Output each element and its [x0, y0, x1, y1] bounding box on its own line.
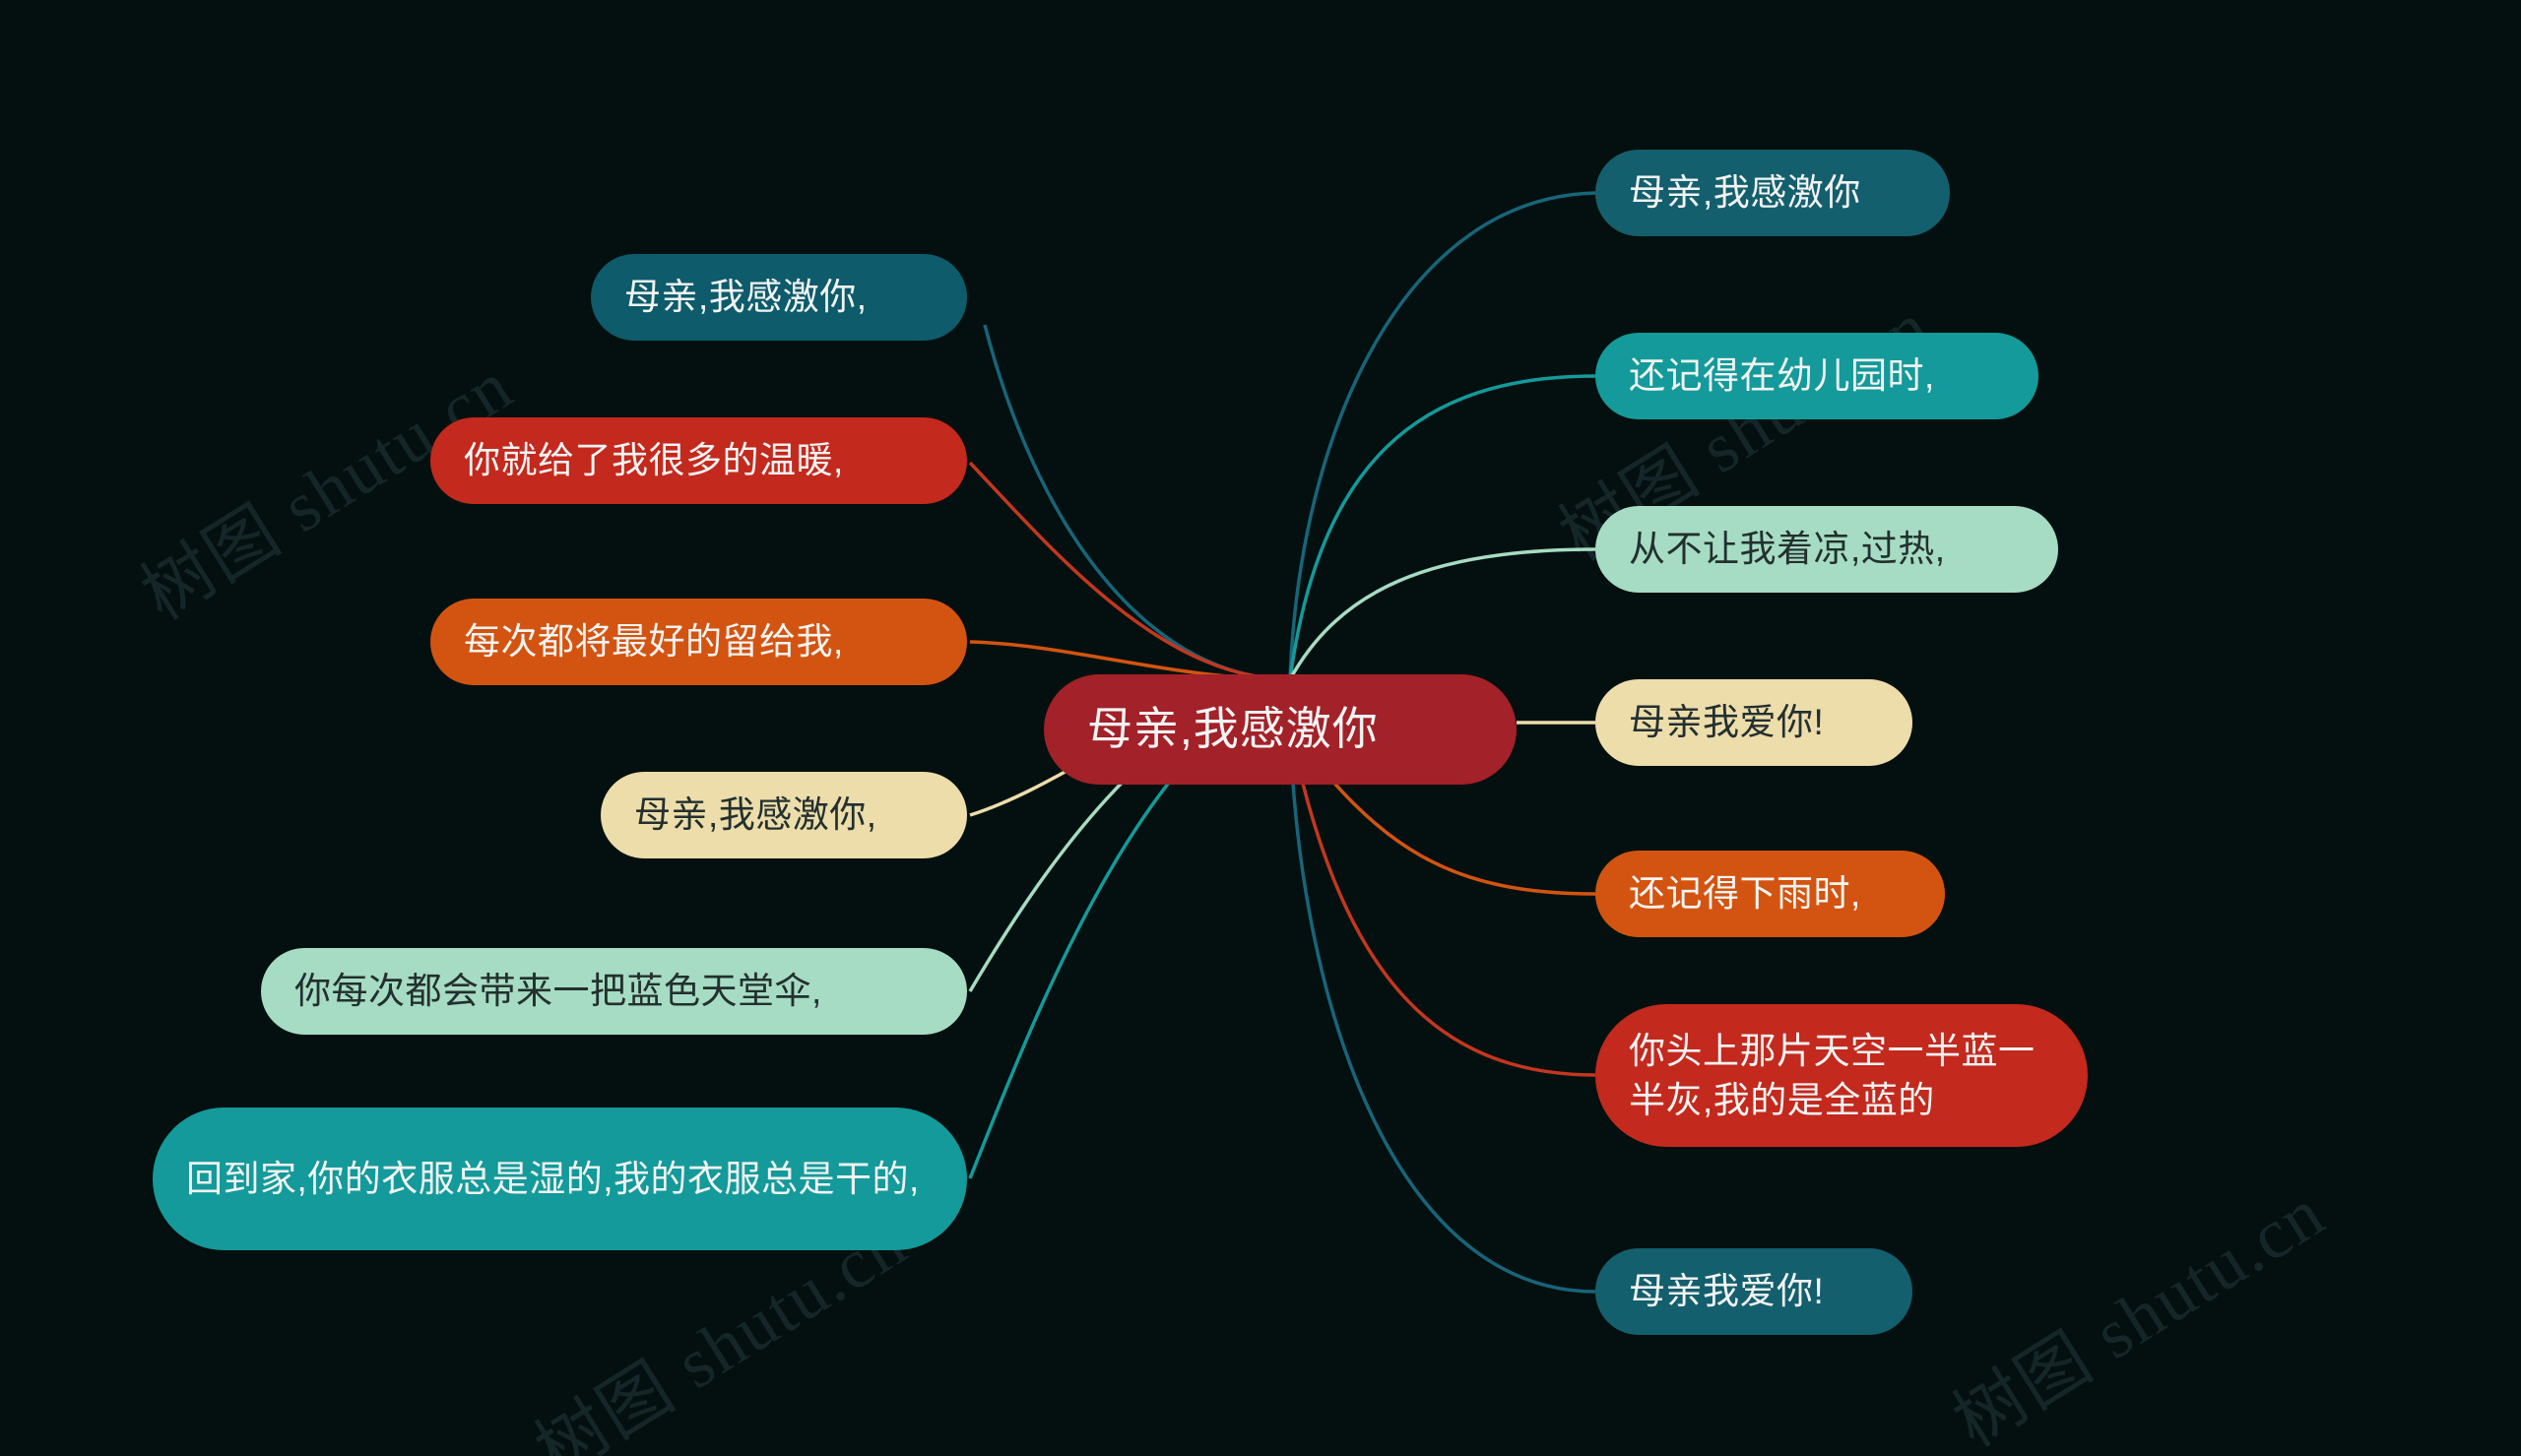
node-label: 母亲,我感激你,: [634, 791, 934, 840]
node-label: 你头上那片天空一半蓝一半灰,我的是全蓝的: [1629, 1027, 2054, 1124]
mindmap-canvas: 树图 shutu.cn树图 shutu.cn树图 shutu.cn树图 shut…: [0, 0, 2521, 1456]
node-label: 母亲,我感激你: [1629, 168, 1916, 218]
watermark-text: 树图 shutu.cn: [1930, 1156, 2341, 1456]
branch-node-right-1[interactable]: 母亲,我感激你: [1595, 150, 1950, 236]
branch-node-right-7[interactable]: 母亲我爱你!: [1595, 1248, 1912, 1335]
branch-node-left-3[interactable]: 每次都将最好的留给我,: [430, 599, 967, 685]
branch-node-right-4[interactable]: 母亲我爱你!: [1595, 679, 1912, 766]
connector-left-1: [985, 325, 1290, 679]
branch-node-right-3[interactable]: 从不让我着凉,过热,: [1595, 506, 2058, 593]
connector-right-1: [1290, 193, 1595, 679]
branch-node-right-6[interactable]: 你头上那片天空一半蓝一半灰,我的是全蓝的: [1595, 1004, 2088, 1147]
branch-node-left-2[interactable]: 你就给了我很多的温暖,: [430, 417, 967, 504]
connector-right-2: [1290, 376, 1595, 679]
node-label: 母亲,我感激你: [1087, 699, 1473, 760]
branch-node-right-5[interactable]: 还记得下雨时,: [1595, 851, 1945, 937]
node-label: 还记得下雨时,: [1629, 869, 1911, 918]
node-label: 每次都将最好的留给我,: [464, 617, 934, 666]
connector-right-7: [1290, 728, 1595, 1292]
node-label: 母亲我爱你!: [1629, 698, 1879, 747]
branch-node-right-2[interactable]: 还记得在幼儿园时,: [1595, 333, 2038, 419]
node-label: 还记得在幼儿园时,: [1629, 351, 2005, 401]
branch-node-left-6[interactable]: 回到家,你的衣服总是湿的,我的衣服总是干的,: [153, 1108, 967, 1250]
connector-left-2: [970, 463, 1290, 679]
branch-node-left-1[interactable]: 母亲,我感激你,: [591, 254, 967, 341]
node-label: 你每次都会带来一把蓝色天堂伞,: [294, 967, 934, 1016]
node-label: 你就给了我很多的温暖,: [464, 436, 934, 485]
node-label: 从不让我着凉,过热,: [1629, 525, 2025, 574]
node-label: 母亲,我感激你,: [624, 273, 934, 322]
node-label: 母亲我爱你!: [1629, 1267, 1879, 1316]
connector-right-3: [1290, 549, 1595, 679]
branch-node-left-4[interactable]: 母亲,我感激你,: [601, 772, 967, 858]
root-node[interactable]: 母亲,我感激你: [1044, 674, 1517, 785]
node-label: 回到家,你的衣服总是湿的,我的衣服总是干的,: [186, 1155, 934, 1204]
branch-node-left-5[interactable]: 你每次都会带来一把蓝色天堂伞,: [261, 948, 967, 1035]
